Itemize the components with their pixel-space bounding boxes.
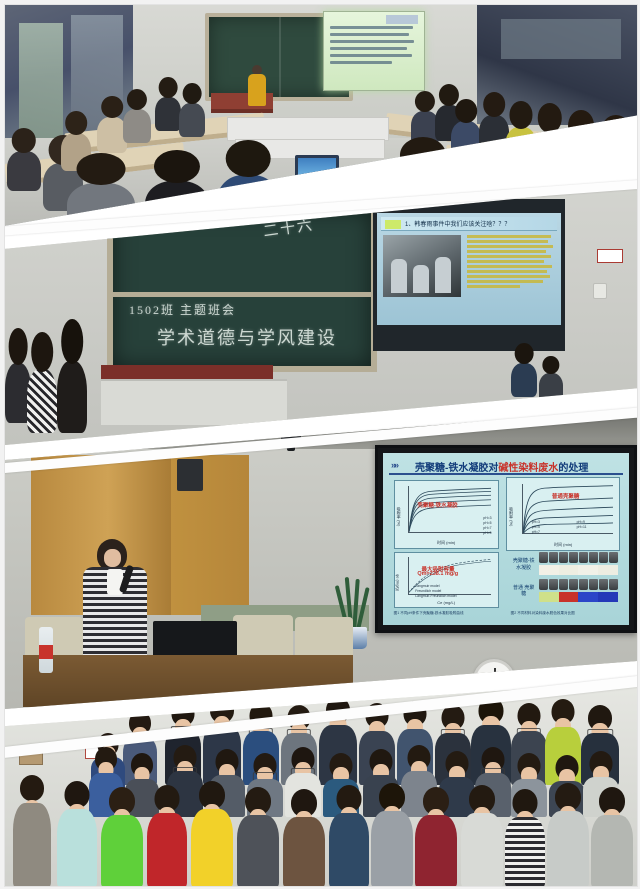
chart-curves — [409, 486, 491, 532]
presenter-figure — [83, 539, 147, 659]
panel-blackboard-and-slide: 二十六 1502班 主题班会 学术道德与学风建设 1、韩春雨事件中我们应该关注啥… — [5, 187, 637, 445]
slide-body: 吸附率 (%) — [389, 477, 623, 611]
student — [479, 115, 509, 155]
teacher-figure — [248, 65, 266, 105]
chart-plot-area — [408, 486, 491, 533]
chart-ylabel: 吸附率 (%) — [396, 507, 402, 526]
chart-xlabel: 时间 (min) — [395, 540, 498, 546]
wall-speaker — [177, 459, 203, 491]
table — [444, 145, 637, 189]
blackboard-rail — [113, 292, 371, 297]
slide-surface: »» 壳聚糖-铁水凝胶对碱性染料废水的处理 吸附率 (%) — [383, 453, 629, 625]
student — [505, 127, 537, 171]
blackboard-text-line2: 学术道德与学风建设 — [157, 324, 337, 350]
chart-legend: Langmuir model Freundlich model Langmuir… — [415, 584, 456, 599]
slide-text-lines — [330, 26, 418, 68]
slide-header-box — [386, 15, 418, 24]
sample-tubes — [539, 552, 619, 563]
blackboard-text-line1: 1502班 主题班会 — [129, 301, 236, 318]
student — [7, 151, 41, 191]
slide-title: 壳聚糖-铁水凝胶对碱性染料废水的处理 — [415, 459, 588, 474]
chart-label: 普通壳聚糖 — [552, 492, 580, 500]
presentation-display: »» 壳聚糖-铁水凝胶对碱性染料废水的处理 吸附率 (%) — [375, 445, 637, 633]
person — [237, 787, 279, 886]
person — [283, 789, 325, 886]
person — [147, 785, 187, 886]
slide-surface: 1、韩春雨事件中我们应该关注啥？？？ — [377, 213, 561, 325]
slide-heading-text: 1、韩春雨事件中我们应该关注啥？？？ — [405, 219, 510, 228]
collage-frame: 二十六 1502班 主题班会 学术道德与学风建设 1、韩春雨事件中我们应该关注啥… — [4, 4, 638, 887]
slide-title-highlight: 碱性染料废水 — [498, 463, 558, 474]
front-cabinet — [101, 379, 287, 425]
student — [511, 363, 537, 397]
projector-screen: 1、韩春雨事件中我们应该关注啥？？？ — [373, 199, 565, 351]
chart-ylabel: 吸附率 (%) — [508, 507, 514, 526]
laptop — [295, 155, 339, 183]
panel-class-group-photo — [5, 681, 637, 886]
blackboard-text-top: 二十六 — [262, 214, 315, 242]
wall-notice — [597, 249, 623, 263]
student — [539, 373, 563, 403]
chart-bottom-left: qe (mg/g) 最大吸附容量 Qm=238.1 mg/g — [394, 552, 499, 608]
person — [461, 785, 503, 886]
slide-bullet-marker — [385, 220, 401, 229]
sample-row-chitosan: 普通 壳聚糖 — [511, 579, 619, 608]
slide-heading-bar: 1、韩春雨事件中我们应该关注啥？？？ — [381, 217, 557, 231]
collage-canvas: 二十六 1502班 主题班会 学术道德与学风建设 1、韩春雨事件中我们应该关注啥… — [5, 5, 637, 886]
chart-top-right: 吸附率 (%) — [506, 477, 620, 551]
chart-legend: pH=3 pH=5 pH=7 pH=9 — [483, 516, 491, 536]
person — [329, 785, 369, 886]
chair-row — [227, 117, 389, 141]
slide-news-photo — [383, 235, 461, 297]
table — [305, 183, 435, 202]
student — [67, 183, 135, 235]
panel-student-presentation: »» 壳聚糖-铁水凝胶对碱性染料废水的处理 吸附率 (%) — [5, 409, 637, 709]
chart-ylabel: qe (mg/g) — [396, 574, 401, 591]
chart-xlabel: Ce (mg/L) — [395, 600, 498, 605]
chart-top-left: 吸附率 (%) — [394, 480, 499, 549]
sample-row-hydrogel: 壳聚糖-铁 水凝胶 — [511, 552, 619, 581]
collage-page: 二十六 1502班 主题班会 学术道德与学风建设 1、韩春雨事件中我们应该关注啥… — [0, 0, 640, 889]
person — [505, 789, 545, 886]
sample-colour-bar — [539, 592, 619, 602]
chart-xlabel: 时间 (min) — [507, 542, 619, 548]
slide-title-suffix: 的处理 — [558, 463, 588, 474]
chalk-tray — [101, 365, 273, 379]
chart-label-line2: Qm=238.1 mg/g — [417, 571, 458, 577]
blackboard: 二十六 1502班 主题班会 学术道德与学风建设 — [107, 205, 377, 372]
slide-title-prefix: 壳聚糖-铁水凝胶对 — [415, 463, 498, 474]
group-photo-front-row — [5, 767, 637, 886]
chart-legend-2: pH=9 pH=11 — [577, 520, 587, 530]
student — [123, 109, 151, 143]
water-bottle — [39, 627, 53, 673]
student — [57, 361, 87, 433]
chart-caption-right: 图2 不同材料对染料废水脱色效果对比图 — [511, 611, 575, 616]
person — [13, 775, 51, 886]
person — [415, 787, 457, 886]
student — [145, 181, 209, 235]
sample-row-label: 壳聚糖-铁 水凝胶 — [511, 558, 537, 571]
person — [57, 781, 97, 886]
student — [27, 369, 57, 433]
projector-screen — [323, 11, 425, 91]
person — [191, 781, 233, 886]
student — [179, 103, 205, 137]
student — [533, 131, 567, 179]
chart-label: 壳聚糖-铁水凝胶 — [417, 501, 457, 509]
chart-caption-left: 图1 不同pH条件下壳聚糖-铁水凝胶吸附曲线 — [394, 611, 464, 616]
students-foreground — [5, 353, 97, 445]
sample-tubes — [539, 579, 619, 590]
chart-legend: pH=3 pH=5 pH=7 — [532, 520, 540, 535]
chevron-right-icon: »» — [391, 460, 397, 470]
slide-title-bar: »» 壳聚糖-铁水凝胶对碱性染料废水的处理 — [389, 457, 623, 475]
student — [563, 139, 599, 189]
wall-outlet — [593, 283, 607, 299]
ceiling-camera-icon — [281, 431, 301, 445]
student — [451, 121, 481, 159]
person — [101, 787, 143, 886]
presenter-table — [23, 655, 353, 707]
person — [371, 783, 413, 886]
person — [591, 787, 633, 886]
student — [155, 97, 181, 131]
sample-row-label: 普通 壳聚糖 — [511, 585, 537, 598]
sample-colour-bar — [539, 565, 619, 575]
person — [547, 783, 589, 886]
slide-body-text — [467, 235, 555, 290]
